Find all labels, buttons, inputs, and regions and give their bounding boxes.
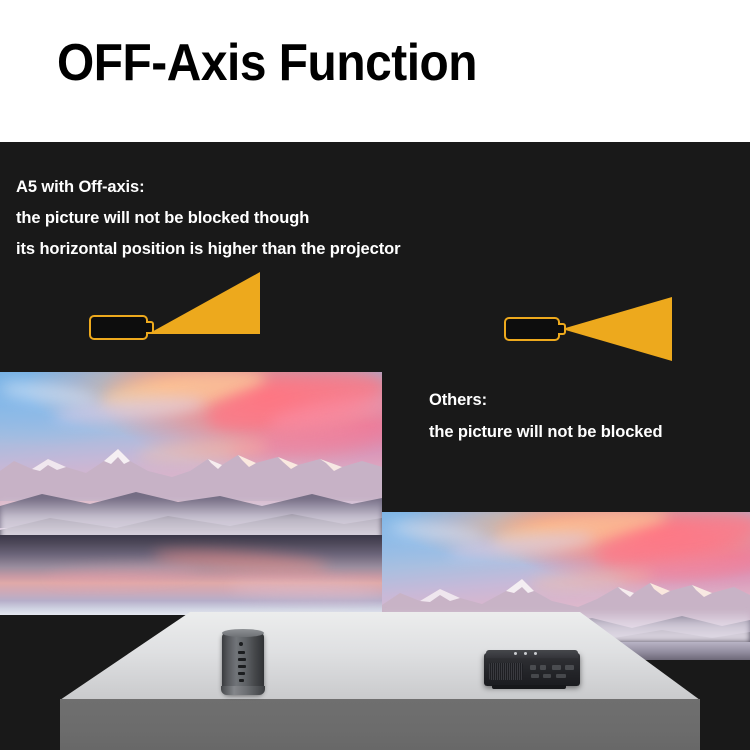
box-port-icon [565,665,574,670]
cylinder-port-icon [238,651,245,654]
box-projector-vent [489,663,523,680]
page-title: OFF-Axis Function [57,33,477,93]
callout-right-line2: the picture will not be blocked [429,416,662,448]
projector-battery-icon [89,315,148,340]
product-feature-image: OFF-Axis Function A5 with Off-axis: the … [0,0,750,750]
cylinder-projector-body [222,632,264,694]
standard-beam-icon [562,297,672,361]
box-port-icon [556,674,566,678]
display-table-front [60,699,700,750]
cylinder-port-indicator-icon [239,642,243,646]
callout-right: Others: the picture will not be blocked [429,384,662,448]
cylinder-projector-lens-top [222,629,264,637]
projector-battery-nub-icon-2 [558,323,566,335]
box-port-icon [531,674,539,678]
callout-left: A5 with Off-axis: the picture will not b… [16,172,400,265]
screen-left-content [0,372,382,615]
cylinder-port-icon [239,679,244,682]
box-port-icon [552,665,561,670]
projector-battery-nub-icon [146,321,154,334]
cylinder-projector-base [221,686,265,695]
box-port-icon [530,665,536,670]
callout-right-heading: Others: [429,384,662,416]
projector-battery-icon-2 [504,317,560,341]
projected-image-off-axis [0,372,382,615]
display-table-top [60,612,700,712]
box-projector-foot [492,685,566,689]
off-axis-beam-icon [148,272,260,342]
box-projector-led-icon [514,652,517,655]
box-projector-top [486,650,578,658]
box-projector-led-icon [534,652,537,655]
callout-left-heading: A5 with Off-axis: [16,172,400,203]
cylinder-port-icon [238,672,245,675]
header-band: OFF-Axis Function [0,0,750,142]
cylinder-port-icon [238,658,246,661]
box-projector-led-icon [524,652,527,655]
box-port-icon [540,665,546,670]
callout-left-line3: its horizontal position is higher than t… [16,234,400,265]
box-port-icon [543,674,551,678]
callout-left-line2: the picture will not be blocked though [16,203,400,234]
cylinder-port-icon [238,665,246,668]
